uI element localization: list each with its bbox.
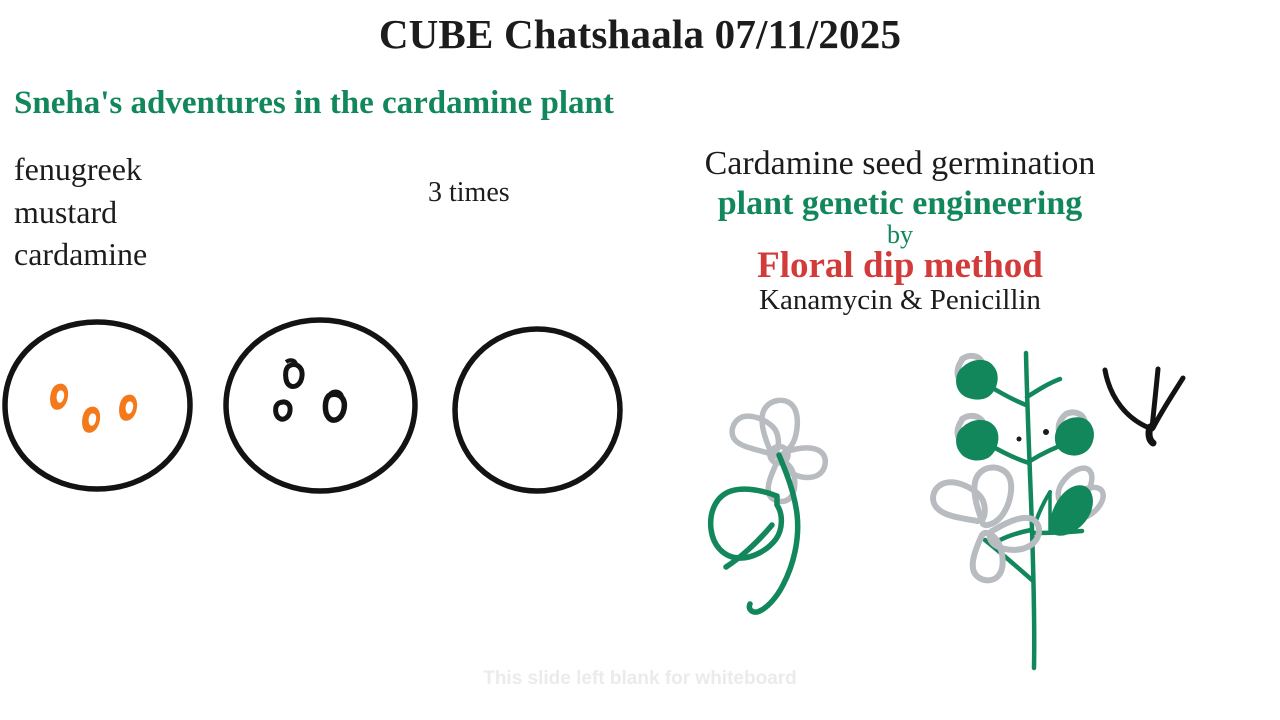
petal-icon [973, 533, 1003, 580]
petri-dish-empty [455, 329, 620, 491]
bud-body-icon [1051, 487, 1091, 534]
petal-icon [933, 482, 985, 521]
petal-icon [990, 518, 1039, 550]
plant-branch [1036, 492, 1050, 521]
bud-cap-icon [962, 356, 983, 365]
page-title: CUBE Chatshaala 07/11/2025 [0, 10, 1280, 58]
seed-icon [330, 392, 342, 396]
slide-subtitle: Sneha's adventures in the cardamine plan… [14, 85, 614, 122]
plant-main-stem [1026, 353, 1034, 668]
bud-cap-icon [962, 416, 984, 425]
repeat-count-label: 3 times [428, 177, 510, 209]
species-item-fenugreek: fenugreek [14, 148, 147, 191]
bud-cap-icon [958, 420, 962, 440]
bud-sepal-icon [1058, 468, 1092, 506]
bud-cap-icon [958, 360, 962, 380]
whiteboard-note: This slide left blank for whiteboard [0, 668, 1280, 690]
pod-stroke-icon [1153, 378, 1183, 428]
petal-icon [762, 400, 797, 456]
plant-branch [1032, 531, 1082, 533]
antibiotics-label: Kanamycin & Penicillin [600, 285, 1200, 317]
plant-gray-flower [933, 467, 1039, 580]
seed-group [50, 384, 137, 433]
petri-dish-outline [5, 322, 190, 489]
species-list: fenugreek mustard cardamine [14, 148, 147, 276]
floral-dip-heading: Floral dip method [600, 246, 1200, 286]
germination-heading: Cardamine seed germination [600, 146, 1200, 183]
plant-branch [988, 444, 1029, 463]
flower-leaf-vein [726, 525, 772, 567]
cardamine-flower-sketch [711, 400, 826, 612]
seed-icon [276, 402, 291, 419]
seed-icon [82, 407, 100, 433]
plant-branch [1000, 530, 1031, 540]
petal-icon [768, 461, 795, 502]
plant-branch [1027, 379, 1060, 397]
petri-dish-black-seeds [226, 320, 415, 491]
bud-body-icon [958, 422, 997, 459]
petri-dish-outline [226, 320, 415, 491]
bud-cap-icon [1059, 415, 1065, 434]
pod-stroke-icon [1152, 369, 1158, 428]
bud-body-icon [1057, 419, 1093, 454]
seed-icon [50, 384, 68, 410]
flower-petals [732, 400, 825, 501]
plant-bud [958, 416, 997, 459]
right-text-block: Cardamine seed germination plant genetic… [600, 146, 1200, 317]
species-item-cardamine: cardamine [14, 233, 147, 276]
petri-dish-orange-seeds [5, 322, 190, 489]
plant-dot [1017, 437, 1022, 442]
seed-pod-sketch [1105, 369, 1183, 443]
plant-branch [986, 384, 1026, 405]
plant-branch [1030, 443, 1068, 461]
species-item-mustard: mustard [14, 191, 147, 234]
seed-icon [286, 365, 302, 387]
pod-junction-icon [1149, 427, 1153, 443]
bud-body-icon [958, 362, 996, 398]
petal-icon [732, 416, 778, 453]
plant-dot [1043, 429, 1049, 435]
genetic-engineering-heading: plant genetic engineering [600, 185, 1200, 222]
pod-stroke-icon [1105, 370, 1152, 429]
bud-cap-icon [1066, 412, 1085, 423]
petal-icon [782, 448, 825, 478]
petal-icon [974, 467, 1011, 525]
seed-icon [119, 395, 137, 421]
seed-icon [325, 394, 344, 420]
flower-center [770, 447, 788, 464]
plant-branch [985, 540, 1032, 580]
plant-bud-cluster [1050, 468, 1103, 534]
plant-bud [958, 356, 996, 398]
seed-icon [286, 360, 296, 364]
seed-highlight-group [57, 390, 134, 425]
slide-canvas: CUBE Chatshaala 07/11/2025 Sneha's adven… [0, 0, 1280, 720]
seed-group [276, 360, 345, 420]
cardamine-plant-sketch [933, 353, 1103, 668]
flower-leaf [711, 489, 782, 558]
bud-sepal-icon [1067, 487, 1103, 519]
plant-bud [1057, 412, 1093, 453]
flower-stem [749, 455, 797, 612]
petri-dish-outline [455, 329, 620, 491]
